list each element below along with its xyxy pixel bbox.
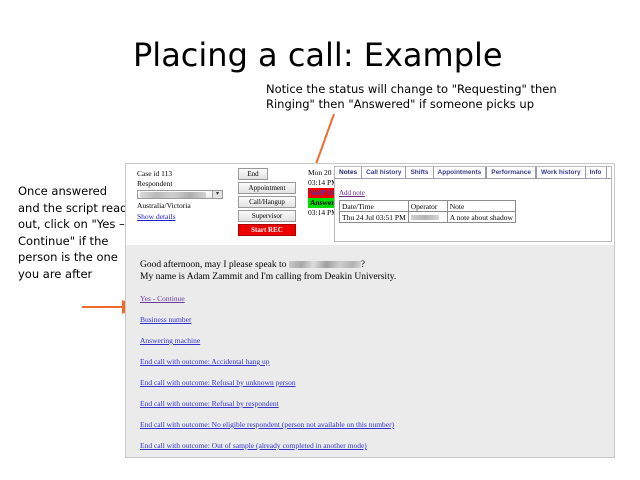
end-button[interactable]: End xyxy=(238,168,268,180)
column-operator: Operator xyxy=(408,201,447,212)
script-area: Good afternoon, may I please speak to ? … xyxy=(126,245,614,457)
action-refusal-respondent[interactable]: End call with outcome: Refusal by respon… xyxy=(140,399,614,409)
script-action-list: Yes - Continue Business number Answering… xyxy=(140,294,614,451)
cell-note: A note about shadow xyxy=(447,212,515,223)
cell-datetime: Thu 24 Jul 03:51 PM xyxy=(340,212,409,223)
action-business-number[interactable]: Business number xyxy=(140,315,614,325)
notes-table: Date/Time Operator Note Thu 24 Jul 03:51… xyxy=(339,200,516,223)
case-locale: Australia/Victoria xyxy=(137,201,237,211)
operator-redacted-value xyxy=(411,215,439,220)
tab-call-history[interactable]: Call history xyxy=(362,167,406,178)
respondent-name-redacted xyxy=(289,261,361,268)
tab-notes[interactable]: Notes xyxy=(335,167,362,178)
script-line2: My name is Adam Zammit and I'm calling f… xyxy=(140,272,396,282)
action-accidental-hangup[interactable]: End call with outcome: Accidental hang u… xyxy=(140,357,614,367)
action-out-of-sample[interactable]: End call with outcome: Out of sample (al… xyxy=(140,441,614,451)
callout-status-note: Notice the status will change to "Reques… xyxy=(266,82,606,112)
action-yes-continue[interactable]: Yes - Continue xyxy=(140,294,614,304)
script-greeting: Good afternoon, may I please speak to ? … xyxy=(140,259,614,283)
supervisor-button[interactable]: Supervisor xyxy=(238,210,296,222)
detail-pane: Notes Call history Shifts Appointments P… xyxy=(334,166,612,242)
case-info-block: Case id 113 Respondent ▾ Australia/Victo… xyxy=(137,169,237,222)
table-header-row: Date/Time Operator Note xyxy=(340,201,516,212)
respondent-redacted-value xyxy=(140,192,206,198)
tab-shifts[interactable]: Shifts xyxy=(406,167,433,178)
cell-operator xyxy=(408,212,447,223)
tab-info[interactable]: Info xyxy=(586,167,607,178)
tab-work-history[interactable]: Work history xyxy=(537,167,586,178)
embedded-app-screenshot: Case id 113 Respondent ▾ Australia/Victo… xyxy=(125,163,615,458)
script-line1-after: ? xyxy=(361,260,365,270)
column-datetime: Date/Time xyxy=(340,201,409,212)
appointment-button[interactable]: Appointment xyxy=(238,182,296,194)
detail-tabbar: Notes Call history Shifts Appointments P… xyxy=(335,167,611,179)
start-rec-button[interactable]: Start REC xyxy=(238,224,296,236)
show-details-link[interactable]: Show details xyxy=(137,212,237,222)
table-row[interactable]: Thu 24 Jul 03:51 PM A note about shadow xyxy=(340,212,516,223)
action-answering-machine[interactable]: Answering machine xyxy=(140,336,614,346)
script-line1-before: Good afternoon, may I please speak to xyxy=(140,260,286,270)
callout-yes-continue-note: Once answered and the script read out, c… xyxy=(18,183,128,282)
call-action-buttons: End Appointment Call/Hangup Supervisor S… xyxy=(238,168,300,238)
add-note-link[interactable]: Add note xyxy=(339,189,365,197)
case-id-label: Case id 113 xyxy=(137,169,237,179)
tab-appointments[interactable]: Appointments xyxy=(434,167,488,178)
action-refusal-unknown-person[interactable]: End call with outcome: Refusal by unknow… xyxy=(140,378,614,388)
action-no-eligible-respondent[interactable]: End call with outcome: No eligible respo… xyxy=(140,420,614,430)
page-title: Placing a call: Example xyxy=(133,36,503,74)
call-hangup-button[interactable]: Call/Hangup xyxy=(238,196,296,208)
chevron-down-icon[interactable]: ▾ xyxy=(212,191,222,198)
respondent-label: Respondent xyxy=(137,179,237,189)
respondent-select[interactable]: ▾ xyxy=(137,190,223,199)
notes-panel: Add note Date/Time Operator Note Thu 24 … xyxy=(335,179,611,226)
tab-performance[interactable]: Performance xyxy=(487,167,537,178)
column-note: Note xyxy=(447,201,515,212)
app-header-area: Case id 113 Respondent ▾ Australia/Victo… xyxy=(126,164,614,245)
